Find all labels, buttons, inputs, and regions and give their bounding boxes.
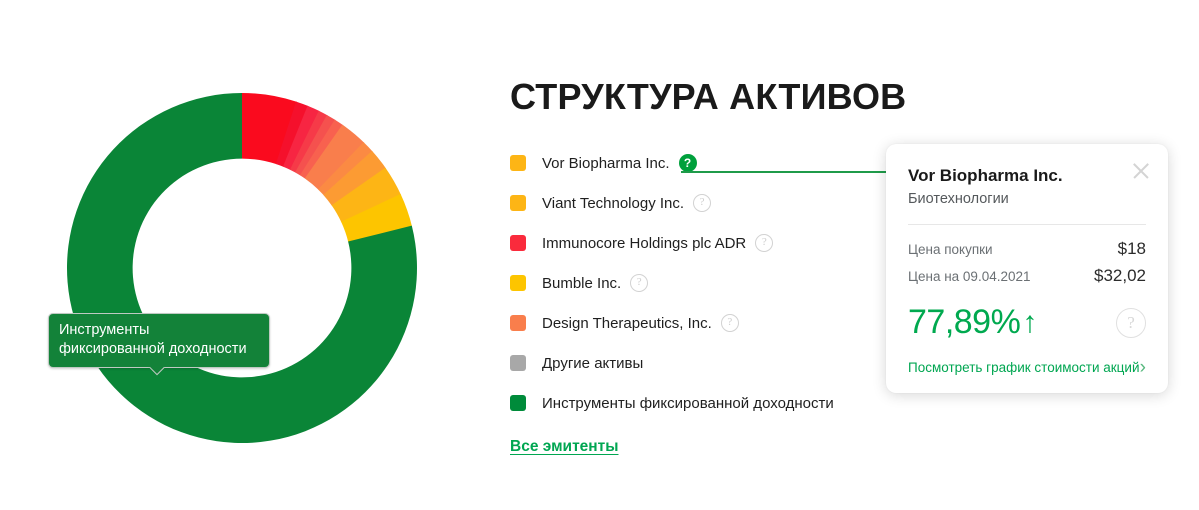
legend-color-swatch [510, 155, 526, 171]
chart-tooltip-text: Инструменты фиксированной доходности [59, 322, 247, 357]
legend-item[interactable]: Другие активы [510, 352, 930, 374]
legend-item[interactable]: Инструменты фиксированной доходности [510, 392, 930, 414]
donut-svg [52, 78, 432, 458]
legend-item-label: Viant Technology Inc. [542, 195, 684, 212]
close-icon[interactable] [1130, 160, 1152, 182]
card-stat-row: Цена покупки$18 [908, 239, 1146, 259]
all-issuers-link[interactable]: Все эмитенты [510, 438, 619, 456]
card-company-name: Vor Biopharma Inc. [908, 166, 1146, 186]
card-stat-value: $18 [1118, 239, 1146, 259]
legend-item[interactable]: Immunocore Holdings plc ADR? [510, 232, 930, 254]
card-stats-list: Цена покупки$18Цена на 09.04.2021$32,02 [908, 239, 1146, 286]
help-icon[interactable]: ? [1116, 308, 1146, 338]
card-divider [908, 224, 1146, 225]
legend-color-swatch [510, 195, 526, 211]
growth-value-text: 77,89% [908, 303, 1020, 342]
legend-item[interactable]: Design Therapeutics, Inc.? [510, 312, 930, 334]
help-icon[interactable]: ? [755, 234, 773, 252]
tooltip-connector-line [681, 171, 888, 173]
donut-segment-group[interactable] [67, 93, 417, 443]
legend-color-swatch [510, 355, 526, 371]
growth-percentage: 77,89% ↑ [908, 303, 1037, 342]
tooltip-arrow [147, 367, 165, 376]
card-stat-label: Цена на 09.04.2021 [908, 269, 1031, 284]
legend-list: Vor Biopharma Inc.?Viant Technology Inc.… [510, 152, 930, 414]
legend-color-swatch [510, 275, 526, 291]
legend-item[interactable]: Viant Technology Inc.? [510, 192, 930, 214]
legend-color-swatch [510, 235, 526, 251]
assets-structure-panel: СТРУКТУРА АКТИВОВ Vor Biopharma Inc.?Via… [510, 76, 930, 456]
legend-color-swatch [510, 395, 526, 411]
view-price-chart-link[interactable]: Посмотреть график стоимости акций › [908, 358, 1146, 377]
card-stat-label: Цена покупки [908, 242, 993, 257]
card-stat-row: Цена на 09.04.2021$32,02 [908, 266, 1146, 286]
help-icon[interactable]: ? [721, 314, 739, 332]
arrow-up-icon: ↑ [1022, 308, 1037, 338]
legend-item-label: Design Therapeutics, Inc. [542, 315, 712, 332]
legend-item-label: Vor Biopharma Inc. [542, 155, 670, 172]
legend-item-label: Инструменты фиксированной доходности [542, 395, 834, 412]
stock-info-card: Vor Biopharma Inc. Биотехнологии Цена по… [886, 144, 1168, 393]
legend-item-label: Bumble Inc. [542, 275, 621, 292]
view-price-chart-label: Посмотреть график стоимости акций [908, 360, 1140, 375]
legend-item[interactable]: Bumble Inc.? [510, 272, 930, 294]
chevron-right-icon: › [1140, 358, 1146, 377]
help-icon[interactable]: ? [679, 154, 697, 172]
card-growth-row: 77,89% ↑ ? [908, 303, 1146, 342]
card-sector-label: Биотехнологии [908, 191, 1146, 207]
help-icon[interactable]: ? [630, 274, 648, 292]
legend-color-swatch [510, 315, 526, 331]
legend-item-label: Другие активы [542, 355, 643, 372]
legend-item-label: Immunocore Holdings plc ADR [542, 235, 746, 252]
card-stat-value: $32,02 [1094, 266, 1146, 286]
chart-hover-tooltip: Инструменты фиксированной доходности [48, 313, 270, 368]
help-icon[interactable]: ? [693, 194, 711, 212]
page-title: СТРУКТУРА АКТИВОВ [510, 76, 930, 118]
asset-structure-donut-chart[interactable] [52, 78, 432, 458]
